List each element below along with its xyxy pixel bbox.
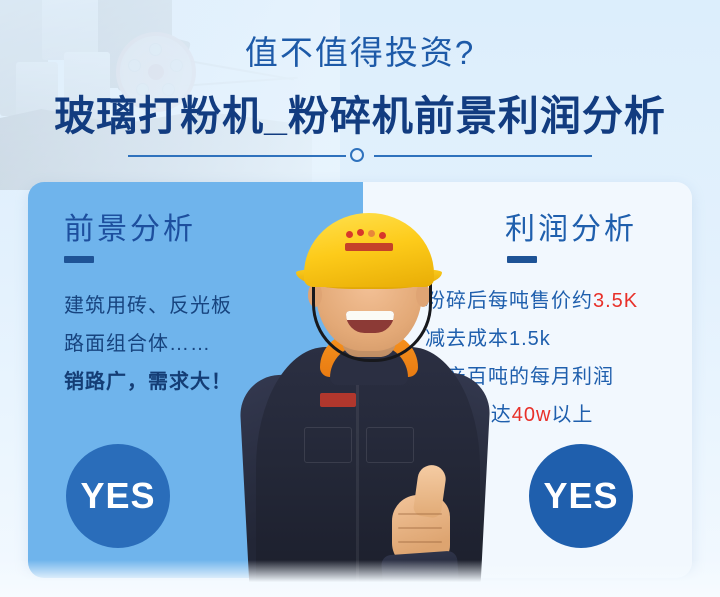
panel-left-heading-dash	[64, 256, 94, 263]
header: 值不值得投资? 玻璃打粉机_粉碎机前景利润分析	[0, 0, 720, 180]
panel-right-heading-dash	[507, 256, 537, 263]
profit-value: 40w	[512, 404, 552, 426]
panel-left-heading: 前景分析	[64, 204, 196, 248]
price-value: 3.5K	[593, 290, 638, 312]
header-subtitle: 值不值得投资?	[0, 26, 720, 74]
list-item: 建筑用砖、反光板	[64, 287, 232, 325]
hard-hat-logo	[342, 229, 396, 255]
divider-circle-icon	[350, 148, 364, 162]
divider-rule-right	[374, 155, 592, 157]
yes-badge-right: YES	[529, 444, 633, 548]
page-title: 玻璃打粉机_粉碎机前景利润分析	[0, 82, 720, 142]
title-divider	[128, 155, 592, 157]
profit-suffix: 以上	[551, 404, 593, 426]
panel-right-heading: 利润分析	[505, 204, 637, 248]
poster-root: 值不值得投资? 玻璃打粉机_粉碎机前景利润分析 前景分析 建筑用砖、反光板 路面…	[0, 0, 720, 597]
list-item: 销路广，需求大！	[64, 363, 232, 401]
list-item: 路面组合体……	[64, 325, 232, 363]
thumbs-up-icon	[390, 465, 460, 575]
uniform-logo	[320, 393, 356, 407]
worker-photo	[238, 215, 498, 597]
yes-badge-left: YES	[66, 444, 170, 548]
panel-left-lines: 建筑用砖、反光板 路面组合体…… 销路广，需求大！	[64, 287, 232, 401]
divider-rule-left	[128, 155, 346, 157]
